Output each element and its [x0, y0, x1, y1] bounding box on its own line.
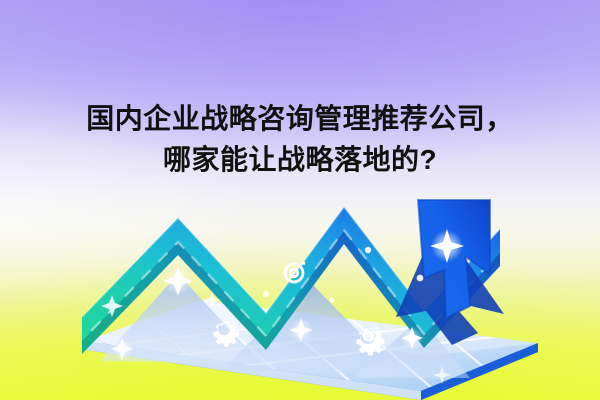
sparkle-star	[365, 247, 371, 253]
illustration-rising-arrow	[0, 178, 600, 400]
sparkle-star	[329, 297, 334, 302]
page-title-line-2: 哪家能让战略落地的?	[0, 139, 600, 180]
poster-canvas: 国内企业战略咨询管理推荐公司， 哪家能让战略落地的?	[0, 0, 600, 400]
sparkle-star	[417, 275, 424, 282]
sparkle-star	[111, 338, 133, 360]
sparkle-star	[289, 318, 313, 342]
sparkle-star	[401, 327, 423, 349]
page-title-line-1: 国内企业战略咨询管理推荐公司，	[0, 98, 600, 139]
sparkle-star	[263, 291, 269, 297]
page-title: 国内企业战略咨询管理推荐公司， 哪家能让战略落地的?	[0, 98, 600, 180]
